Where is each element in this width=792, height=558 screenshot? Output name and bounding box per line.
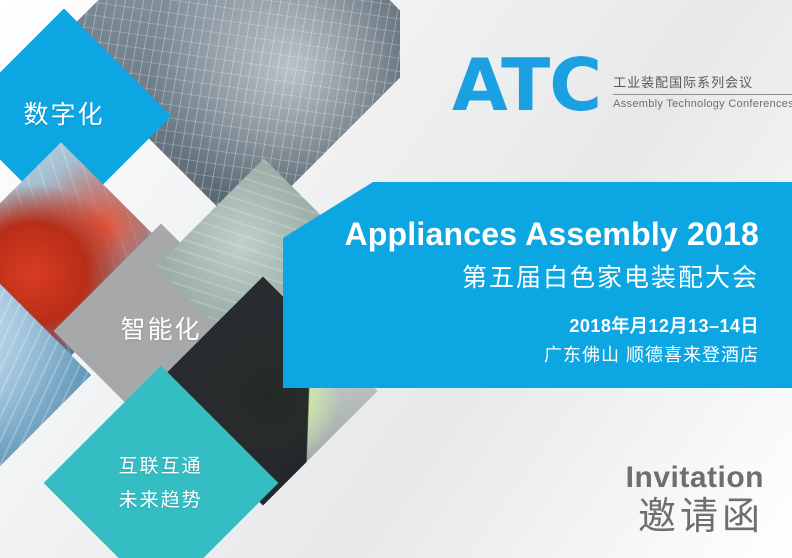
invitation-poster: 数字化 智能化 xyxy=(0,0,792,558)
invitation-label: Invitation 邀请函 xyxy=(626,461,764,540)
diamond-label-digitalization: 数字化 xyxy=(23,99,104,133)
event-venue: 广东佛山 顺德喜来登酒店 xyxy=(544,341,759,367)
atc-tagline-cn: 工业装配国际系列会议 xyxy=(613,72,792,95)
diamond-label-connectivity-line2: 未来趋势 xyxy=(119,487,203,513)
diamond-label-intelligence: 智能化 xyxy=(120,314,201,348)
atc-wordmark: ATC xyxy=(452,52,601,118)
invitation-label-cn: 邀请函 xyxy=(626,496,764,540)
atc-tagline: 工业装配国际系列会议 Assembly Technology Conferenc… xyxy=(613,72,792,110)
event-title-cn: 第五届白色家电装配大会 xyxy=(462,258,759,294)
diamond-label-connectivity-line1: 互联互通 xyxy=(119,453,203,479)
atc-logo: ATC 工业装配国际系列会议 Assembly Technology Confe… xyxy=(452,52,792,118)
event-date: 2018年月12月13–14日 xyxy=(569,312,759,338)
event-title-en: Appliances Assembly 2018 xyxy=(345,216,760,253)
atc-tagline-en: Assembly Technology Conferences xyxy=(613,98,792,110)
event-banner: Appliances Assembly 2018 第五届白色家电装配大会 201… xyxy=(283,182,792,388)
invitation-label-en: Invitation xyxy=(626,461,764,494)
